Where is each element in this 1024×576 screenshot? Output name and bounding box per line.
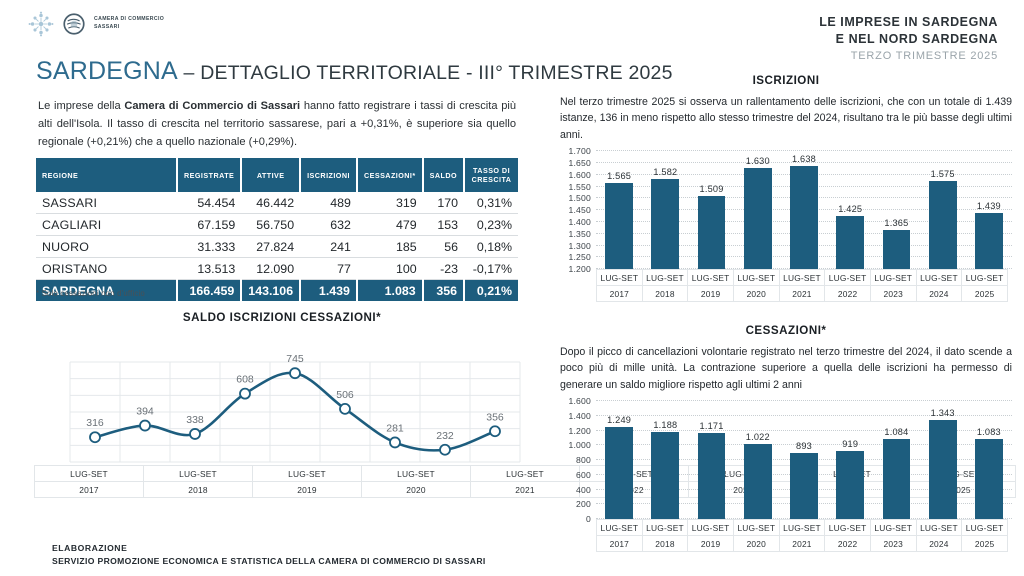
iscrizioni-section: ISCRIZIONI Nel terzo trimestre 2025 si o… — [560, 74, 1012, 302]
data-point-label: 394 — [136, 406, 154, 418]
bar: 1.343 — [929, 420, 957, 519]
data-point-label: 608 — [236, 374, 254, 386]
bar-value-label: 1.425 — [838, 204, 862, 214]
bar-value-label: 1.509 — [700, 184, 724, 194]
bar: 919 — [836, 451, 864, 519]
bar-value-label: 1.630 — [746, 156, 770, 166]
y-tick-label: 0 — [560, 514, 591, 524]
x-year-cell: 2022 — [825, 286, 871, 302]
bar-value-label: 1.084 — [884, 427, 908, 437]
x-period-cell: LUG-SET — [253, 466, 362, 482]
x-year-cell: 2021 — [779, 286, 825, 302]
data-point-marker — [140, 421, 150, 431]
x-period-cell: LUG-SET — [962, 270, 1008, 286]
bar-value-label: 1.022 — [746, 432, 770, 442]
y-tick-label: 200 — [560, 499, 591, 509]
x-year-cell: 2022 — [825, 536, 871, 552]
cell-tasso: 0,21% — [464, 280, 518, 302]
cell-iscrizioni: 489 — [300, 192, 357, 214]
table-row: SASSARI 54.454 46.442 489 319 170 0,31% — [36, 192, 518, 214]
bar: 893 — [790, 453, 818, 519]
bar-value-label: 919 — [842, 439, 858, 449]
bar: 1.249 — [605, 427, 633, 519]
bar-value-label: 893 — [796, 441, 812, 451]
cell-saldo: 56 — [423, 236, 464, 258]
data-point-marker — [90, 432, 100, 442]
header-line-1: LE IMPRESE IN SARDEGNA — [819, 14, 998, 31]
cell-saldo: 153 — [423, 214, 464, 236]
cell-attive: 56.750 — [241, 214, 300, 236]
data-point-label: 316 — [86, 417, 104, 429]
bar: 1.630 — [744, 168, 772, 269]
iscrizioni-plot-area: 1.2001.2501.3001.3501.4001.4501.5001.550… — [560, 151, 1012, 269]
table-header-row: REGIONE REGISTRATE ATTIVE ISCRIZIONI CES… — [36, 158, 518, 192]
bar-value-label: 1.439 — [977, 201, 1001, 211]
cell-cessazioni: 185 — [357, 236, 423, 258]
x-year-cell: 2021 — [779, 536, 825, 552]
cell-iscrizioni: 241 — [300, 236, 357, 258]
bar: 1.171 — [698, 433, 726, 519]
x-period-cell: LUG-SET — [825, 270, 871, 286]
bar-slot: 1.575 — [920, 151, 966, 269]
cell-registrate: 13.513 — [177, 258, 241, 280]
cell-tasso: 0,18% — [464, 236, 518, 258]
data-point-marker — [490, 426, 500, 436]
bar-slot: 1.630 — [735, 151, 781, 269]
cell-iscrizioni: 77 — [300, 258, 357, 280]
saldo-chart-title: SALDO ISCRIZIONI CESSAZIONI* — [36, 311, 528, 324]
chamber-logo: CAMERA DI COMMERCIO SASSARI — [28, 11, 164, 37]
x-period-cell: LUG-SET — [733, 270, 779, 286]
bar: 1.084 — [883, 439, 911, 519]
y-tick-label: 1.300 — [560, 241, 591, 251]
bar-value-label: 1.188 — [653, 420, 677, 430]
bar-value-label: 1.171 — [700, 421, 724, 431]
x-period-cell: LUG-SET — [825, 520, 871, 536]
bar: 1.365 — [883, 230, 911, 269]
cell-regione: CAGLIARI — [36, 214, 177, 236]
data-point-label: 356 — [486, 411, 504, 423]
x-period-cell: LUG-SET — [688, 520, 734, 536]
y-tick-label: 1.550 — [560, 182, 591, 192]
y-tick-label: 400 — [560, 485, 591, 495]
cell-tasso: 0,31% — [464, 192, 518, 214]
data-point-marker — [440, 445, 450, 455]
cessazioni-x-labels-table: LUG-SETLUG-SETLUG-SETLUG-SETLUG-SETLUG-S… — [596, 519, 1008, 552]
intro-paragraph: Le imprese della Camera di Commercio di … — [38, 98, 516, 152]
y-tick-label: 1.250 — [560, 252, 591, 262]
x-year-cell: 2017 — [597, 286, 643, 302]
x-year-cell: 2017 — [597, 536, 643, 552]
bar-slot: 1.638 — [781, 151, 827, 269]
y-tick-label: 600 — [560, 470, 591, 480]
footer: ELABORAZIONE SERVIZIO PROMOZIONE ECONOMI… — [52, 542, 486, 568]
x-year-cell: 2020 — [362, 482, 471, 498]
x-year-row: 201720182019202020212022202320242025 — [597, 536, 1008, 552]
bar: 1.439 — [975, 213, 1003, 269]
data-point-marker — [340, 404, 350, 414]
bar: 1.575 — [929, 181, 957, 270]
x-period-cell: LUG-SET — [870, 520, 916, 536]
x-year-cell: 2025 — [962, 286, 1008, 302]
cell-saldo: 170 — [423, 192, 464, 214]
x-period-cell: LUG-SET — [688, 270, 734, 286]
x-year-cell: 2019 — [688, 286, 734, 302]
data-point-label: 281 — [386, 422, 404, 434]
y-tick-label: 1.200 — [560, 264, 591, 274]
bar-value-label: 1.575 — [931, 169, 955, 179]
cell-attive: 143.106 — [241, 280, 300, 302]
iscrizioni-title: ISCRIZIONI — [560, 74, 1012, 87]
publication-header: LE IMPRESE IN SARDEGNA E NEL NORD SARDEG… — [819, 14, 998, 64]
x-period-cell: LUG-SET — [779, 270, 825, 286]
data-point-label: 506 — [336, 389, 354, 401]
x-year-cell: 2018 — [642, 536, 688, 552]
data-point-marker — [390, 437, 400, 447]
iscrizioni-x-labels-table: LUG-SETLUG-SETLUG-SETLUG-SETLUG-SETLUG-S… — [596, 269, 1008, 302]
data-point-label: 232 — [436, 430, 454, 442]
iscrizioni-paragraph: Nel terzo trimestre 2025 si osserva un r… — [560, 94, 1012, 143]
x-period-cell: LUG-SET — [642, 520, 688, 536]
data-point-marker — [290, 368, 300, 378]
bar-slot: 1.084 — [873, 401, 919, 519]
x-year-cell: 2023 — [870, 286, 916, 302]
x-year-cell: 2025 — [962, 536, 1008, 552]
bar-slot: 1.509 — [688, 151, 734, 269]
y-tick-label: 800 — [560, 455, 591, 465]
chamber-emblem-icon — [61, 11, 87, 37]
footer-line-1: ELABORAZIONE — [52, 542, 486, 555]
bar-slot: 1.565 — [596, 151, 642, 269]
bar-slot: 1.171 — [688, 401, 734, 519]
y-tick-label: 1.650 — [560, 158, 591, 168]
bar-value-label: 1.083 — [977, 427, 1001, 437]
table-row: CAGLIARI 67.159 56.750 632 479 153 0,23% — [36, 214, 518, 236]
bar-slot: 1.425 — [827, 151, 873, 269]
x-year-cell: 2024 — [916, 286, 962, 302]
x-year-cell: 2020 — [733, 286, 779, 302]
saldo-plot-area: 316394338608745506281232356 — [36, 336, 528, 476]
bar: 1.188 — [651, 432, 679, 520]
cessazioni-plot-area: 02004006008001.0001.2001.4001.6001.2491.… — [560, 401, 1012, 519]
th-attive: ATTIVE — [241, 158, 300, 192]
x-period-cell: LUG-SET — [144, 466, 253, 482]
x-period-cell: LUG-SET — [362, 466, 471, 482]
cell-tasso: 0,23% — [464, 214, 518, 236]
bar: 1.509 — [698, 196, 726, 269]
territorial-table: REGIONE REGISTRATE ATTIVE ISCRIZIONI CES… — [36, 158, 518, 301]
table-body: SASSARI 54.454 46.442 489 319 170 0,31% … — [36, 192, 518, 301]
y-tick-label: 1.600 — [560, 396, 591, 406]
x-year-cell: 2018 — [144, 482, 253, 498]
bar-slot: 1.582 — [642, 151, 688, 269]
cell-registrate: 54.454 — [177, 192, 241, 214]
x-period-cell: LUG-SET — [35, 466, 144, 482]
th-registrate: REGISTRATE — [177, 158, 241, 192]
x-period-cell: LUG-SET — [642, 270, 688, 286]
x-year-cell: 2020 — [733, 536, 779, 552]
network-snowflake-icon — [28, 11, 54, 37]
cell-saldo: 356 — [423, 280, 464, 302]
bar: 1.638 — [790, 166, 818, 269]
x-period-row: LUG-SETLUG-SETLUG-SETLUG-SETLUG-SETLUG-S… — [597, 270, 1008, 286]
header-line-2: E NEL NORD SARDEGNA — [819, 31, 998, 48]
saldo-chart: SALDO ISCRIZIONI CESSAZIONI* 31639433860… — [36, 311, 528, 476]
cell-iscrizioni: 1.439 — [300, 280, 357, 302]
y-tick-label: 1.350 — [560, 229, 591, 239]
bar-series: 1.5651.5821.5091.6301.6381.4251.3651.575… — [596, 151, 1012, 269]
cell-cessazioni: 1.083 — [357, 280, 423, 302]
x-period-cell: LUG-SET — [733, 520, 779, 536]
page-title-highlight: SARDEGNA — [36, 57, 178, 85]
x-period-cell: LUG-SET — [916, 270, 962, 286]
bar: 1.582 — [651, 179, 679, 269]
bar-value-label: 1.249 — [607, 415, 631, 425]
bar-value-label: 1.582 — [653, 167, 677, 177]
cell-saldo: -23 — [423, 258, 464, 280]
bar-slot: 1.249 — [596, 401, 642, 519]
footer-line-2: SERVIZIO PROMOZIONE ECONOMICA E STATISTI… — [52, 555, 486, 568]
table-row: NUORO 31.333 27.824 241 185 56 0,18% — [36, 236, 518, 258]
bar-slot: 1.343 — [920, 401, 966, 519]
bar-value-label: 1.365 — [884, 218, 908, 228]
bar-value-label: 1.343 — [931, 408, 955, 418]
th-cessazioni: CESSAZIONI* — [357, 158, 423, 192]
y-tick-label: 1.700 — [560, 146, 591, 156]
bar: 1.022 — [744, 444, 772, 519]
table-row: ORISTANO 13.513 12.090 77 100 -23 -0,17% — [36, 258, 518, 280]
bar-slot: 919 — [827, 401, 873, 519]
x-period-cell: LUG-SET — [916, 520, 962, 536]
bar-slot: 1.083 — [966, 401, 1012, 519]
bar: 1.083 — [975, 439, 1003, 519]
y-tick-label: 1.500 — [560, 193, 591, 203]
intro-part1: Le imprese della — [38, 100, 124, 112]
cessazioni-title: CESSAZIONI* — [560, 324, 1012, 337]
bar-slot: 1.365 — [873, 151, 919, 269]
x-year-cell: 2017 — [35, 482, 144, 498]
y-tick-label: 1.400 — [560, 217, 591, 227]
cell-tasso: -0,17% — [464, 258, 518, 280]
data-point-label: 338 — [186, 414, 204, 426]
bar-slot: 1.188 — [642, 401, 688, 519]
x-period-cell: LUG-SET — [962, 520, 1008, 536]
y-tick-label: 1.400 — [560, 411, 591, 421]
bar-value-label: 1.638 — [792, 154, 816, 164]
cell-iscrizioni: 632 — [300, 214, 357, 236]
x-year-cell: 2023 — [870, 536, 916, 552]
bar-series: 1.2491.1881.1711.0228939191.0841.3431.08… — [596, 401, 1012, 519]
x-year-cell: 2024 — [916, 536, 962, 552]
intro-bold: Camera di Commercio di Sassari — [124, 100, 300, 112]
th-tasso-crescita: TASSO DI CRESCITA — [464, 158, 518, 192]
bar-slot: 893 — [781, 401, 827, 519]
bar-value-label: 1.565 — [607, 171, 631, 181]
data-point-marker — [240, 389, 250, 399]
bar: 1.425 — [836, 216, 864, 269]
x-year-row: 201720182019202020212022202320242025 — [597, 286, 1008, 302]
cell-attive: 46.442 — [241, 192, 300, 214]
y-tick-label: 1.600 — [560, 170, 591, 180]
y-tick-label: 1.450 — [560, 205, 591, 215]
cell-registrate: 166.459 — [177, 280, 241, 302]
x-period-row: LUG-SETLUG-SETLUG-SETLUG-SETLUG-SETLUG-S… — [597, 520, 1008, 536]
cell-attive: 27.824 — [241, 236, 300, 258]
cell-cessazioni: 100 — [357, 258, 423, 280]
logo-wordmark: CAMERA DI COMMERCIO SASSARI — [94, 16, 164, 31]
th-regione: REGIONE — [36, 158, 177, 192]
cessazioni-paragraph: Dopo il picco di cancellazioni volontari… — [560, 344, 1012, 393]
y-tick-label: 1.000 — [560, 440, 591, 450]
saldo-line-svg: 316394338608745506281232356 — [36, 336, 528, 476]
bar: 1.565 — [605, 183, 633, 269]
bar-slot: 1.439 — [966, 151, 1012, 269]
cell-regione: NUORO — [36, 236, 177, 258]
y-tick-label: 1.200 — [560, 426, 591, 436]
cell-registrate: 31.333 — [177, 236, 241, 258]
cell-cessazioni: 479 — [357, 214, 423, 236]
th-iscrizioni: ISCRIZIONI — [300, 158, 357, 192]
x-period-cell: LUG-SET — [779, 520, 825, 536]
infographic-page: CAMERA DI COMMERCIO SASSARI LE IMPRESE I… — [0, 0, 1024, 576]
data-point-marker — [190, 429, 200, 439]
cell-attive: 12.090 — [241, 258, 300, 280]
cell-regione: SASSARI — [36, 192, 177, 214]
data-point-label: 745 — [286, 353, 304, 365]
x-year-cell: 2018 — [642, 286, 688, 302]
logo-line2: SASSARI — [94, 24, 164, 32]
cessazioni-section: CESSAZIONI* Dopo il picco di cancellazio… — [560, 324, 1012, 552]
table-footnote: * Solo cessazioni non d'ufficio — [36, 289, 145, 298]
th-saldo: SALDO — [423, 158, 464, 192]
x-year-cell: 2019 — [253, 482, 362, 498]
cell-registrate: 67.159 — [177, 214, 241, 236]
bar-slot: 1.022 — [735, 401, 781, 519]
x-year-cell: 2019 — [688, 536, 734, 552]
cell-cessazioni: 319 — [357, 192, 423, 214]
table-head: REGIONE REGISTRATE ATTIVE ISCRIZIONI CES… — [36, 158, 518, 192]
x-period-cell: LUG-SET — [870, 270, 916, 286]
x-period-cell: LUG-SET — [597, 520, 643, 536]
logo-line1: CAMERA DI COMMERCIO — [94, 16, 164, 24]
cell-regione: ORISTANO — [36, 258, 177, 280]
x-period-cell: LUG-SET — [597, 270, 643, 286]
header-line-3: TERZO TRIMESTRE 2025 — [819, 48, 998, 65]
